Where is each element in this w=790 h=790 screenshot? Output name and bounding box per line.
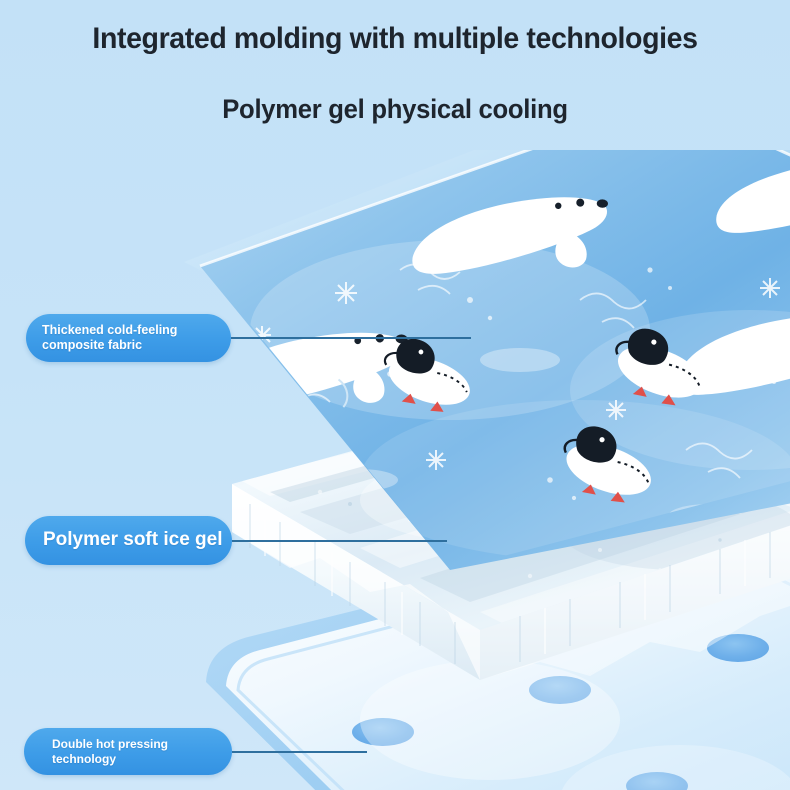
heading-block: Integrated molding with multiple technol…	[0, 0, 790, 125]
callout-pill[interactable]: Thickened cold-feeling composite fabric	[26, 314, 231, 362]
leader-line	[231, 337, 471, 339]
page-title: Integrated molding with multiple technol…	[20, 0, 771, 56]
callout-double-hot-pressing[interactable]: Double hot pressing technology	[24, 728, 367, 775]
callout-label: Thickened cold-feeling composite fabric	[42, 323, 177, 353]
callout-label: Double hot pressing technology	[52, 737, 168, 765]
leader-line	[232, 751, 367, 753]
callout-label: Polymer soft ice gel	[43, 529, 223, 551]
callout-polymer-soft-ice-gel[interactable]: Polymer soft ice gel	[25, 516, 447, 565]
callout-pill[interactable]: Polymer soft ice gel	[25, 516, 232, 565]
page-subtitle: Polymer gel physical cooling	[20, 56, 771, 125]
callout-thickened-fabric[interactable]: Thickened cold-feeling composite fabric	[26, 314, 471, 362]
product-infographic: Integrated molding with multiple technol…	[0, 0, 790, 790]
callout-pill[interactable]: Double hot pressing technology	[24, 728, 232, 775]
leader-line	[232, 540, 447, 542]
